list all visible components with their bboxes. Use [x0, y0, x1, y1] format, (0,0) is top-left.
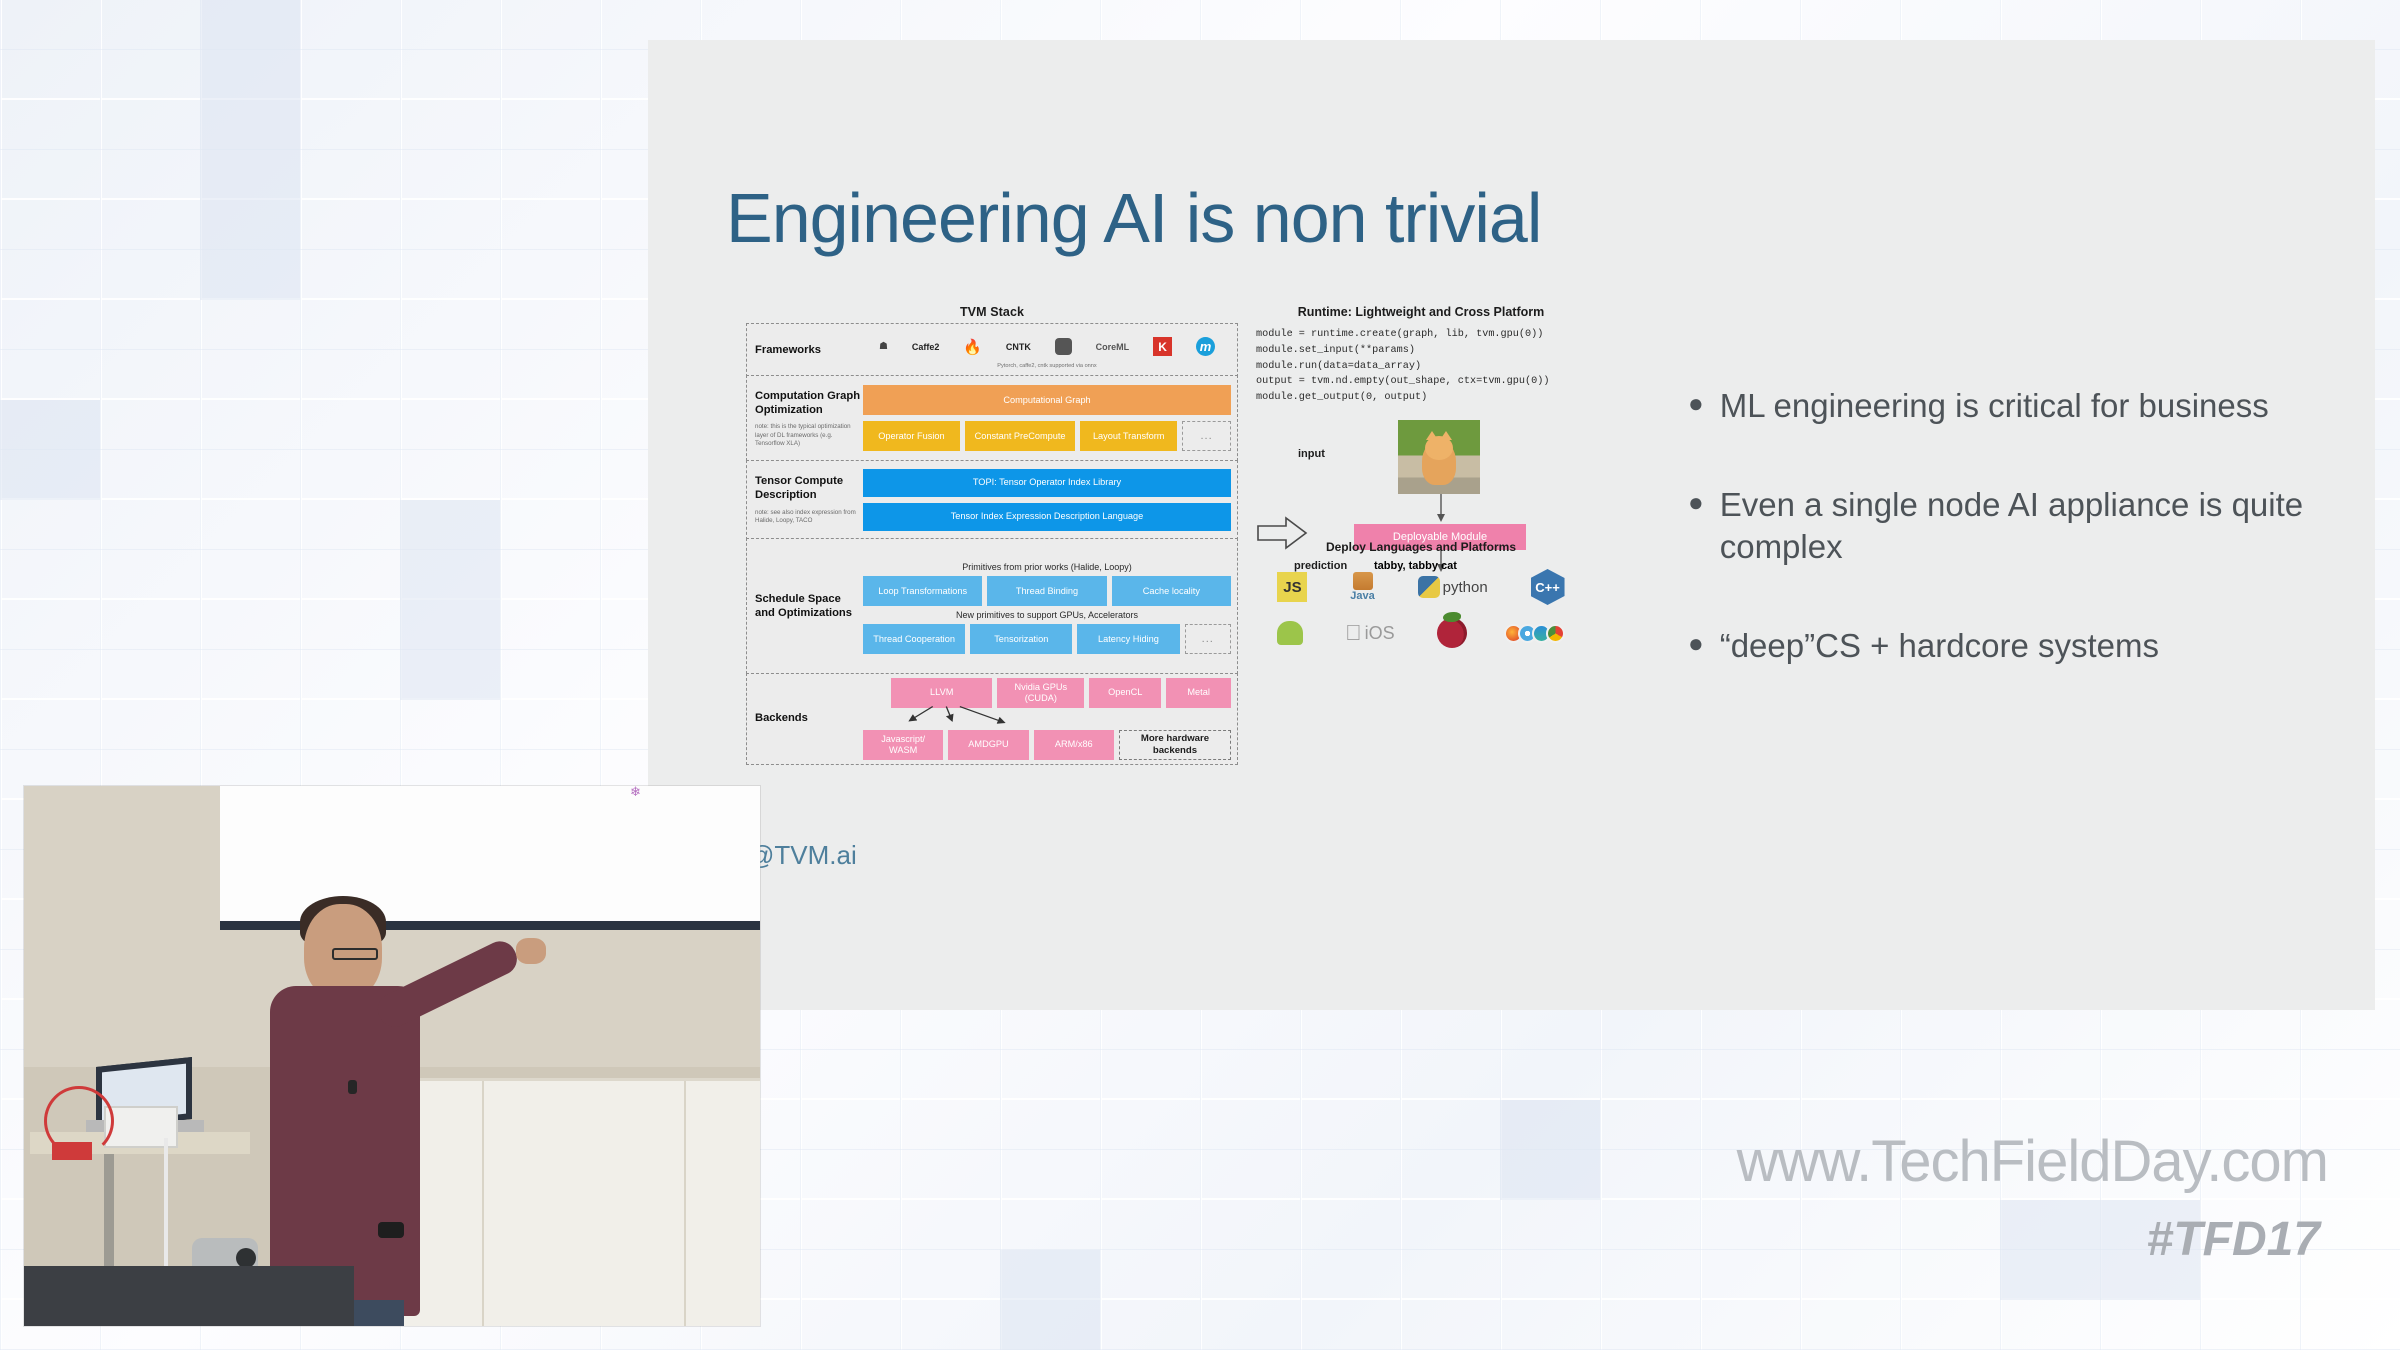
python-label: python [1443, 579, 1488, 596]
caffe2-icon: ☗ [879, 341, 888, 352]
schedule-caption-top: Primitives from prior works (Halide, Loo… [863, 562, 1231, 572]
bullet-dot-icon: ● [1688, 625, 1704, 666]
cat-input-image [1398, 420, 1480, 494]
schedule-caption-bottom: New primitives to support GPUs, Accelera… [863, 610, 1231, 620]
java-icon: Java [1350, 572, 1374, 602]
runtime-code-block: module = runtime.create(graph, lib, tvm.… [1256, 327, 1586, 406]
wall-tile [200, 0, 300, 300]
presenter-lapel-mic [348, 1080, 357, 1094]
box-arm-x86: ARM/x86 [1034, 730, 1114, 760]
box-operator-fusion: Operator Fusion [863, 421, 960, 451]
code-line: output = tvm.nd.empty(out_shape, ctx=tvm… [1256, 376, 1549, 387]
video-floor [24, 1266, 354, 1326]
backends-boxes: LLVM Nvidia GPUs (CUDA) OpenCL Metal Jav… [863, 678, 1231, 760]
box-amdgpu: AMDGPU [948, 730, 1028, 760]
mxnet-icon: m [1196, 337, 1215, 356]
runtime-panel: Runtime: Lightweight and Cross Platform … [1256, 305, 1586, 570]
pytorch-icon: 🔥 [963, 338, 982, 356]
browsers-icon [1509, 624, 1565, 643]
keras-icon: K [1153, 337, 1172, 356]
bullet-item: ● “deep”CS + hardcore systems [1688, 625, 2328, 666]
stack-row-frameworks: Frameworks ☗ Caffe2 🔥 CNTK CoreML K m Py… [746, 323, 1238, 377]
bullet-item: ● Even a single node AI appliance is qui… [1688, 484, 2328, 567]
cat-ear [1426, 431, 1438, 440]
down-arrow-icon [1436, 494, 1446, 524]
tvm-stack-diagram: TVM Stack Frameworks ☗ Caffe2 🔥 CNTK Cor… [746, 305, 1238, 840]
caffe2-label: Caffe2 [912, 342, 940, 352]
stack-row-note: note: see also index expression from Hal… [755, 509, 863, 526]
box-latency-hiding: Latency Hiding [1077, 624, 1179, 654]
code-line: module = runtime.create(graph, lib, tvm.… [1256, 329, 1543, 340]
bullet-text: “deep”CS + hardcore systems [1720, 625, 2159, 666]
frameworks-logos: ☗ Caffe2 🔥 CNTK CoreML K m Pytorch, caff… [863, 332, 1231, 369]
box-nvidia-gpus: Nvidia GPUs (CUDA) [997, 678, 1084, 708]
tvm-ai-link[interactable]: @TVM.ai [748, 840, 857, 871]
stack-row-label: Tensor Compute Description note: see als… [755, 474, 863, 525]
runtime-title: Runtime: Lightweight and Cross Platform [1256, 305, 1586, 319]
bullet-list: ● ML engineering is critical for busines… [1688, 385, 2328, 724]
box-tensorization: Tensorization [970, 624, 1072, 654]
ios-label: iOS [1365, 623, 1395, 644]
python-glyph [1418, 576, 1440, 598]
box-layout-transform: Layout Transform [1080, 421, 1177, 451]
video-dev-board [52, 1142, 92, 1160]
cntk-label: CNTK [1006, 342, 1031, 352]
box-thread-cooperation: Thread Cooperation [863, 624, 965, 654]
stack-row-note: note: this is the typical optimization l… [755, 423, 863, 448]
cat-ear [1440, 431, 1452, 440]
cpp-icon: C++ [1531, 569, 1565, 605]
bin-divider [684, 1081, 686, 1326]
code-line: module.get_output(0, output) [1256, 392, 1427, 403]
stack-row-label-text: Tensor Compute Description [755, 475, 843, 501]
deploy-languages-title: Deploy Languages and Platforms [1256, 540, 1586, 554]
box-graph-more: ... [1182, 421, 1231, 451]
box-javascript-wasm: Javascript/ WASM [863, 730, 943, 760]
schedule-space-boxes: Primitives from prior works (Halide, Loo… [863, 558, 1231, 654]
stack-row-schedule-space: Schedule Space and Optimizations Primiti… [746, 538, 1238, 674]
bin-divider [482, 1081, 484, 1326]
stack-row-label: Frameworks [755, 343, 863, 357]
input-label: input [1298, 448, 1325, 460]
box-constant-precompute: Constant PreCompute [965, 421, 1075, 451]
stack-row-graph-optimization: Computation Graph Optimization note: thi… [746, 375, 1238, 461]
box-opencl: OpenCL [1089, 678, 1161, 708]
wall-tile [1000, 1250, 1100, 1350]
box-schedule-more: ... [1185, 624, 1231, 654]
deploy-languages-section: Deploy Languages and Platforms JS Java p… [1256, 540, 1586, 656]
presenter-glasses [332, 948, 378, 960]
wall-tile [400, 500, 500, 700]
ios-icon:  iOS [1345, 620, 1395, 646]
presentation-slide: Engineering AI is non trivial TVM Stack … [648, 40, 2375, 1010]
wall-tile [1500, 1100, 1600, 1200]
video-table-leg [104, 1154, 114, 1274]
java-cup-shape [1353, 572, 1373, 590]
camera-lens [236, 1248, 256, 1268]
raspberry-pi-icon [1437, 618, 1467, 648]
stack-row-tensor-compute: Tensor Compute Description note: see als… [746, 460, 1238, 540]
box-thread-binding: Thread Binding [987, 576, 1106, 606]
code-line: module.set_input(**params) [1256, 345, 1415, 356]
stack-row-backends: Backends LLVM Nvidia GPUs (CUDA) OpenCL … [746, 673, 1238, 765]
presenter-clicker [378, 1222, 404, 1238]
deploy-languages-row-2:  iOS [1256, 610, 1586, 656]
coreml-icon [1055, 338, 1072, 355]
graph-opt-boxes: Computational Graph Operator Fusion Cons… [863, 385, 1231, 451]
video-presenter [260, 904, 470, 1326]
coreml-label: CoreML [1096, 342, 1130, 352]
box-computational-graph: Computational Graph [863, 385, 1231, 415]
box-topi: TOPI: Tensor Operator Index Library [863, 469, 1231, 497]
tvm-stack-title: TVM Stack [746, 305, 1238, 319]
bullet-item: ● ML engineering is critical for busines… [1688, 385, 2328, 426]
bullet-text: ML engineering is critical for business [1720, 385, 2269, 426]
bullet-dot-icon: ● [1688, 385, 1704, 426]
slide-title: Engineering AI is non trivial [726, 178, 1541, 258]
javascript-icon: JS [1277, 572, 1307, 602]
wall-tile [0, 400, 100, 500]
stack-row-label-text: Computation Graph Optimization [755, 390, 860, 416]
code-line: module.run(data=data_array) [1256, 361, 1421, 372]
deploy-languages-row-1: JS Java python C++ [1256, 564, 1586, 610]
python-icon: python [1418, 576, 1488, 598]
stack-row-label: Computation Graph Optimization note: thi… [755, 389, 863, 449]
raspberry-leaf [1443, 612, 1461, 622]
box-more-hardware-backends: More hardware backends [1119, 730, 1231, 760]
box-loop-transformations: Loop Transformations [863, 576, 982, 606]
chrome-icon [1546, 624, 1565, 643]
stack-row-label: Backends [755, 711, 863, 725]
stack-row-label: Schedule Space and Optimizations [755, 592, 863, 621]
java-label: Java [1350, 590, 1374, 602]
bullet-dot-icon: ● [1688, 484, 1704, 567]
projection-screen-mark: ❄ [630, 786, 641, 800]
box-tensor-index-expression: Tensor Index Expression Description Lang… [863, 503, 1231, 531]
speaker-video-inset[interactable]: ❄ aste Recycling [24, 786, 760, 1326]
presenter-hand [516, 938, 546, 964]
watermark-hashtag: #TFD17 [2147, 1212, 2320, 1267]
watermark-url: www.TechFieldDay.com [1737, 1128, 2328, 1195]
android-icon [1277, 621, 1303, 645]
apple-logo-icon:  [1345, 620, 1362, 646]
tensor-compute-boxes: TOPI: Tensor Operator Index Library Tens… [863, 469, 1231, 531]
box-cache-locality: Cache locality [1112, 576, 1231, 606]
box-metal: Metal [1166, 678, 1231, 708]
cat-head [1425, 436, 1453, 460]
frameworks-note: Pytorch, caffe2, cntk supported via onnx [863, 363, 1231, 369]
bullet-text: Even a single node AI appliance is quite… [1720, 484, 2328, 567]
box-llvm: LLVM [891, 678, 992, 708]
